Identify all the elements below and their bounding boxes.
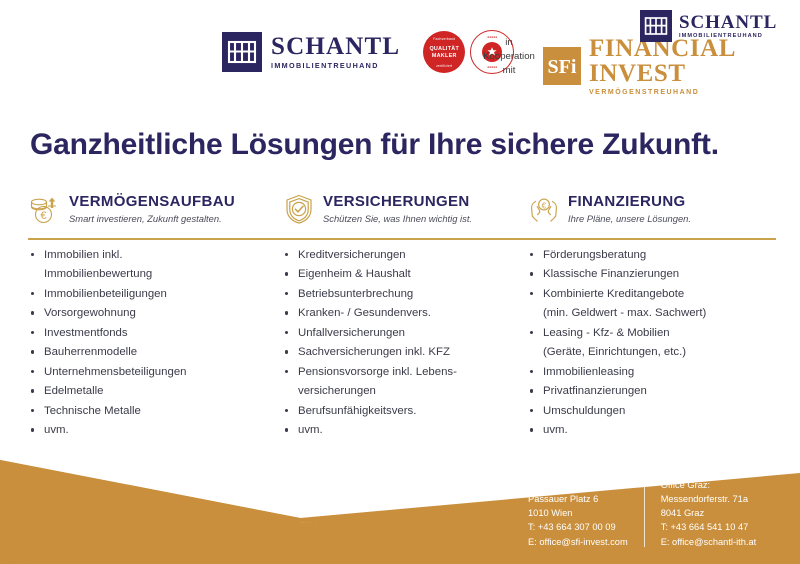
list-item: (Geräte, Einrichtungen, etc.) [527,343,776,361]
list-item: (min. Geldwert - max. Sachwert) [527,304,776,322]
list-item: Bauherrenmodelle [28,343,282,361]
list-item: Kombinierte Kreditangebote [527,285,776,303]
financial-invest-tagline: VERMÖGENSTREUHAND [589,89,800,96]
column-header: € VERMÖGENSAUFBAU Smart investieren, Zuk… [28,188,282,230]
office-name: Office Graz: [661,478,757,492]
ith-monogram-icon [222,32,262,72]
list-item: Umschuldungen [527,402,776,420]
column-titles: FINANZIERUNG Ihre Pläne, unsere Lösungen… [568,194,691,224]
schantl-name: SCHANTL [271,34,400,59]
column-header: VERSICHERUNGEN Schützen Sie, was Ihnen w… [282,188,527,230]
list-item: uvm. [282,421,527,439]
service-list: Immobilien inkl. Immobilienbewertung Imm… [28,246,282,440]
hands-holding-coin-icon: € [527,192,561,226]
cooperation-line-3: mit [503,65,516,76]
list-item: Immobilienleasing [527,363,776,381]
seal-line-1: QUALITÄT [429,46,459,52]
ith-monogram-icon-small [640,10,672,42]
office-email[interactable]: E: office@sfi-invest.com [528,535,628,549]
seal-top-text: Fachverband [423,37,465,41]
column-subtitle: Ihre Pläne, unsere Lösungen. [568,214,691,224]
office-graz-block: Office Graz: Messendorferstr. 71a 8041 G… [645,478,757,549]
list-item: Edelmetalle [28,382,282,400]
svg-text:€: € [542,200,547,210]
schantl-logo-topright: SCHANTL IMMOBILIENTREUHAND [640,10,777,42]
list-item: Investmentfonds [28,324,282,342]
office-phone[interactable]: T: +43 664 307 00 09 [528,520,628,534]
list-item: Privatfinanzierungen [527,382,776,400]
office-phone[interactable]: T: +43 664 541 10 47 [661,520,757,534]
schantl-tagline-topright: IMMOBILIENTREUHAND [679,34,777,40]
header-logo-strip: SCHANTL IMMOBILIENTREUHAND Fachverband Q… [0,0,800,100]
cooperation-line-2: Kooperation [483,51,535,62]
office-email[interactable]: E: office@schantl-ith.at [661,535,757,549]
list-item: Kreditversicherungen [282,246,527,264]
column-title: VERMÖGENSAUFBAU [69,194,235,211]
office-street: Passauer Platz 6 [528,492,628,506]
office-city: 8041 Graz [661,506,757,520]
list-item: Pensionsvorsorge inkl. Lebens- [282,363,527,381]
list-item: Unternehmensbeteiligungen [28,363,282,381]
page-title: Ganzheitliche Lösungen für Ihre sichere … [30,128,719,162]
list-item: Immobilienbeteiligungen [28,285,282,303]
list-item: Klassische Finanzierungen [527,265,776,283]
list-item: Kranken- / Gesundenvers. [282,304,527,322]
office-city: 1010 Wien [528,506,628,520]
list-item: Förderungsberatung [527,246,776,264]
column-header: € FINANZIERUNG Ihre Pläne, unsere Lösung… [527,188,776,230]
list-item: Vorsorgewohnung [28,304,282,322]
financial-invest-wordmark: FINANCIAL INVEST VERMÖGENSTREUHAND [589,36,800,96]
column-titles: VERMÖGENSAUFBAU Smart investieren, Zukun… [69,194,235,224]
list-item: Betriebsunterbrechung [282,285,527,303]
column-subtitle: Schützen Sie, was Ihnen wichtig ist. [323,214,472,224]
shield-check-icon [282,192,316,226]
column-vermoegensaufbau: € VERMÖGENSAUFBAU Smart investieren, Zuk… [28,188,282,441]
list-item: uvm. [28,421,282,439]
seal-main-text: QUALITÄT MAKLER [423,46,465,60]
list-item: Sachversicherungen inkl. KFZ [282,343,527,361]
list-item: Unfallversicherungen [282,324,527,342]
seal-bottom-text: zertifiziert [423,64,465,68]
sfi-monogram-icon: SFi [543,47,581,85]
list-item: Immobilien inkl. [28,246,282,264]
seal-line-2: MAKLER [432,53,457,59]
poster-page: SCHANTL IMMOBILIENTREUHAND Fachverband Q… [0,0,800,564]
sfi-financial-invest-logo: SFi FINANCIAL INVEST VERMÖGENSTREUHAND [543,36,800,96]
footer-contacts: Office Wien: Passauer Platz 6 1010 Wien … [528,478,756,549]
cooperation-line-1: in [505,37,512,48]
column-versicherungen: VERSICHERUNGEN Schützen Sie, was Ihnen w… [282,188,527,441]
schantl-wordmark: SCHANTL IMMOBILIENTREUHAND [271,34,400,69]
qualitaet-makler-seal-icon: Fachverband QUALITÄT MAKLER zertifiziert [423,31,465,73]
schantl-logo-primary: SCHANTL IMMOBILIENTREUHAND Fachverband Q… [222,30,514,74]
list-item: uvm. [527,421,776,439]
schantl-wordmark-topright: SCHANTL IMMOBILIENTREUHAND [679,13,777,40]
schantl-name-topright: SCHANTL [679,13,777,32]
svg-text:SFi: SFi [548,56,577,78]
list-item: Eigenheim & Haushalt [282,265,527,283]
schantl-tagline: IMMOBILIENTREUHAND [271,62,400,69]
financial-invest-name: FINANCIAL INVEST [589,36,800,86]
list-item: Leasing - Kfz- & Mobilien [527,324,776,342]
office-name: Office Wien: [528,478,628,492]
service-columns: € VERMÖGENSAUFBAU Smart investieren, Zuk… [28,188,776,441]
list-item: Technische Metalle [28,402,282,420]
column-finanzierung: € FINANZIERUNG Ihre Pläne, unsere Lösung… [527,188,776,441]
column-title: FINANZIERUNG [568,194,691,211]
cooperation-note: in Kooperation mit [478,36,540,78]
office-wien-block: Office Wien: Passauer Platz 6 1010 Wien … [528,478,644,549]
service-list: Kreditversicherungen Eigenheim & Haushal… [282,246,527,440]
office-street: Messendorferstr. 71a [661,492,757,506]
svg-text:€: € [40,210,46,222]
coins-euro-growth-icon: € [28,192,62,226]
list-item: versicherungen [282,382,527,400]
list-item: Berufsunfähigkeitsvers. [282,402,527,420]
column-subtitle: Smart investieren, Zukunft gestalten. [69,214,235,224]
column-title: VERSICHERUNGEN [323,194,472,211]
list-item: Immobilienbewertung [28,265,282,283]
service-list: Förderungsberatung Klassische Finanzieru… [527,246,776,440]
column-titles: VERSICHERUNGEN Schützen Sie, was Ihnen w… [323,194,472,224]
